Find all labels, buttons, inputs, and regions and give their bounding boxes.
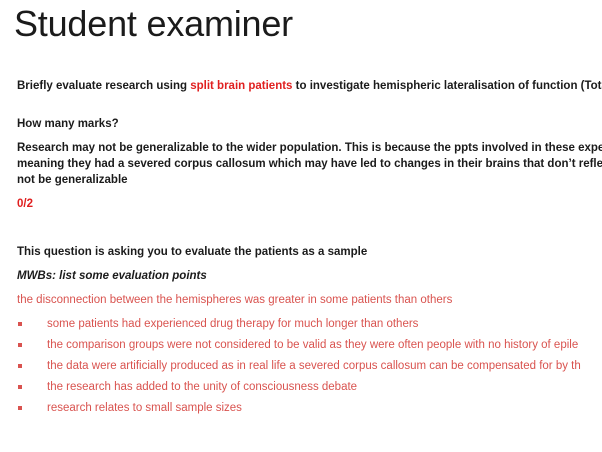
- slide-body: Briefly evaluate research using split br…: [17, 78, 602, 421]
- spacer: [17, 232, 602, 244]
- list-item: the data were artificially produced as i…: [17, 358, 602, 379]
- guidance-mwbs: MWBs: list some evaluation points: [17, 268, 602, 284]
- score-badge: 0/2: [17, 196, 602, 212]
- guidance-explanation: This question is asking you to evaluate …: [17, 244, 602, 260]
- bullet-icon: [18, 406, 22, 410]
- student-answer-line-2: meaning they had a severed corpus callos…: [17, 156, 602, 172]
- bullet-icon: [18, 322, 22, 326]
- page-title: Student examiner: [14, 2, 293, 46]
- list-item: some patients had experienced drug thera…: [17, 316, 602, 337]
- list-item-label: some patients had experienced drug thera…: [47, 316, 418, 332]
- list-item-label: research relates to small sample sizes: [47, 400, 242, 416]
- marks-prompt: How many marks?: [17, 116, 602, 132]
- exam-question: Briefly evaluate research using split br…: [17, 78, 602, 94]
- evaluation-points-list: some patients had experienced drug thera…: [17, 316, 602, 421]
- list-item: research relates to small sample sizes: [17, 400, 602, 421]
- student-answer-line-3: not be generalizable: [17, 172, 602, 188]
- exam-question-highlight: split brain patients: [190, 80, 292, 92]
- spacer: [17, 212, 602, 232]
- list-item-label: the comparison groups were not considere…: [47, 337, 578, 353]
- spacer: [17, 94, 602, 116]
- list-item-label: the data were artificially produced as i…: [47, 358, 581, 374]
- spacer: [17, 188, 602, 196]
- student-answer: Research may not be generalizable to the…: [17, 140, 602, 188]
- spacer: [17, 132, 602, 140]
- list-item-label: the research has added to the unity of c…: [47, 379, 357, 395]
- spacer: [17, 284, 602, 292]
- spacer: [17, 308, 602, 316]
- bullet-icon: [18, 343, 22, 347]
- exam-question-prefix: Briefly evaluate research using: [17, 80, 190, 92]
- spacer: [17, 260, 602, 268]
- slide-canvas: Student examiner Briefly evaluate resear…: [0, 0, 602, 452]
- bullet-icon: [18, 364, 22, 368]
- list-item: the comparison groups were not considere…: [17, 337, 602, 358]
- list-item: the research has added to the unity of c…: [17, 379, 602, 400]
- exam-question-suffix: to investigate hemispheric lateralisatio…: [292, 80, 602, 92]
- bullet-icon: [18, 385, 22, 389]
- student-answer-line-1: Research may not be generalizable to the…: [17, 140, 602, 156]
- guidance-lead-point: the disconnection between the hemisphere…: [17, 292, 602, 308]
